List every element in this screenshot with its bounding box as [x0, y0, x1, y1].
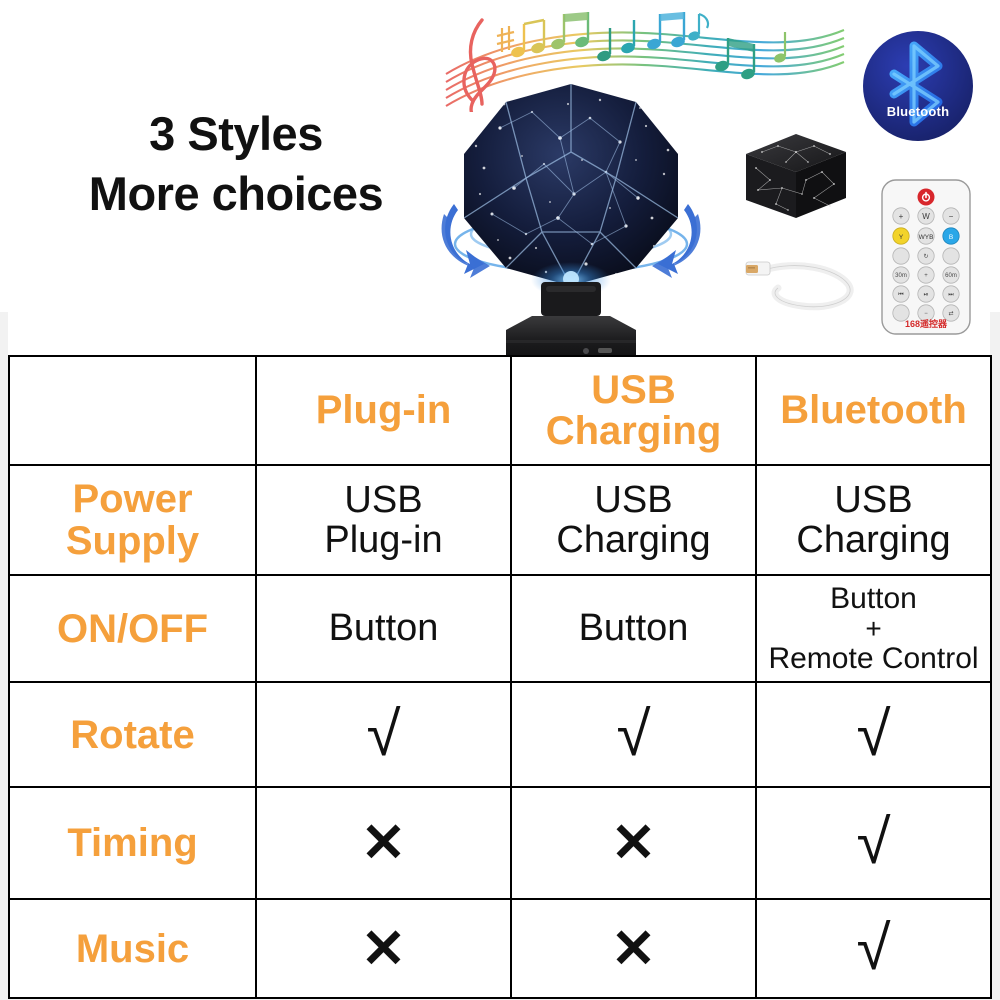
cell-rotate-plug-in: √: [256, 682, 511, 787]
row-label-music: Music: [9, 899, 256, 998]
check-icon: √: [856, 812, 890, 874]
cell-line2: Charging: [757, 520, 990, 560]
usb-cable: [744, 248, 864, 318]
svg-text:+: +: [924, 273, 928, 279]
cell-rotate-bluetooth: √: [756, 682, 991, 787]
cell-power-supply-usb: USB Charging: [511, 465, 756, 575]
svg-text:30m: 30m: [895, 273, 907, 279]
cell-power-supply-plug-in: USB Plug-in: [256, 465, 511, 575]
headline-line-1: 3 Styles: [26, 104, 446, 164]
svg-text:WYB: WYB: [919, 234, 934, 241]
cell-rotate-usb: √: [511, 682, 756, 787]
cross-icon: ✕: [611, 816, 656, 870]
svg-text:Y: Y: [899, 234, 904, 241]
row-label-on-off: ON/OFF: [9, 575, 256, 682]
row-label-text: ON/OFF: [10, 608, 255, 650]
table-row-timing: Timing ✕ ✕ √: [9, 787, 991, 899]
star-projector-lamp: [440, 68, 702, 360]
cell-line1: Button: [757, 583, 990, 615]
bluetooth-badge-label: Bluetooth: [862, 104, 974, 119]
svg-text:⏭: ⏭: [948, 292, 954, 298]
cell-text: Button: [257, 608, 510, 648]
comparison-table: Plug-in USB Charging Bluetooth Power: [8, 355, 992, 999]
cross-icon: ✕: [611, 922, 656, 976]
remote-model-label: 168遥控器: [874, 317, 978, 330]
cell-power-supply-bluetooth: USB Charging: [756, 465, 991, 575]
header-plug-in-label: Plug-in: [257, 390, 510, 431]
cell-line1: USB: [257, 480, 510, 520]
header-cell-bluetooth: Bluetooth: [756, 356, 991, 465]
svg-text:⏯: ⏯: [924, 292, 929, 298]
table-row-on-off: ON/OFF Button Button Button + Remote Con…: [9, 575, 991, 682]
cell-timing-bluetooth: √: [756, 787, 991, 899]
cell-plus: +: [757, 615, 990, 643]
bluetooth-badge: Bluetooth: [862, 30, 974, 142]
svg-text:+: +: [899, 212, 904, 221]
svg-text:−: −: [949, 212, 954, 221]
constellation-gift-box: [738, 128, 850, 224]
cell-line2: Charging: [512, 520, 755, 560]
cell-on-off-plug-in: Button: [256, 575, 511, 682]
header-cell-empty: [9, 356, 256, 465]
headline-line-2: More choices: [26, 164, 446, 224]
svg-text:60m: 60m: [945, 273, 957, 279]
check-icon: √: [366, 704, 400, 766]
header-bluetooth-label: Bluetooth: [757, 390, 990, 431]
cell-line2: Remote Control: [757, 643, 990, 675]
svg-text:W: W: [922, 212, 930, 221]
cell-music-bluetooth: √: [756, 899, 991, 998]
table-row-power-supply: Power Supply USB Plug-in USB Charging: [9, 465, 991, 575]
cell-line1: USB: [512, 480, 755, 520]
svg-text:B: B: [949, 234, 953, 241]
check-icon: √: [616, 704, 650, 766]
row-label-timing: Timing: [9, 787, 256, 899]
check-icon: √: [856, 918, 890, 980]
svg-text:⏮: ⏮: [898, 292, 904, 298]
hero-headline: 3 Styles More choices: [26, 104, 446, 224]
header-cell-usb-charging: USB Charging: [511, 356, 756, 465]
product-comparison-page: 3 Styles More choices: [0, 0, 1000, 1000]
row-label-power-supply: Power Supply: [9, 465, 256, 575]
cell-timing-plug-in: ✕: [256, 787, 511, 899]
row-label-rotate: Rotate: [9, 682, 256, 787]
check-icon: √: [856, 704, 890, 766]
header-cell-plug-in: Plug-in: [256, 356, 511, 465]
header-usb-line1: USB: [512, 370, 755, 411]
table-row-music: Music ✕ ✕ √: [9, 899, 991, 998]
row-label-text: Rotate: [10, 714, 255, 756]
cell-on-off-usb: Button: [511, 575, 756, 682]
cell-line2: Plug-in: [257, 520, 510, 560]
cell-text: Button: [512, 608, 755, 648]
row-label-text: Music: [10, 928, 255, 970]
cell-on-off-bluetooth: Button + Remote Control: [756, 575, 991, 682]
cross-icon: ✕: [361, 922, 406, 976]
cross-icon: ✕: [361, 816, 406, 870]
cell-line1: USB: [757, 480, 990, 520]
cell-timing-usb: ✕: [511, 787, 756, 899]
table-header-row: Plug-in USB Charging Bluetooth: [9, 356, 991, 465]
row-label-line1: Power: [10, 478, 255, 520]
cell-music-usb: ✕: [511, 899, 756, 998]
row-label-line2: Supply: [10, 520, 255, 562]
remote-control: +W− Y WYB B ↻ 30m+60m ⏮⏯⏭ −⇄: [874, 178, 978, 336]
svg-text:↻: ↻: [923, 253, 928, 260]
svg-text:⇄: ⇄: [948, 310, 953, 317]
row-label-text: Timing: [10, 822, 255, 864]
header-usb-line2: Charging: [512, 411, 755, 452]
cell-music-plug-in: ✕: [256, 899, 511, 998]
table-row-rotate: Rotate √ √ √: [9, 682, 991, 787]
